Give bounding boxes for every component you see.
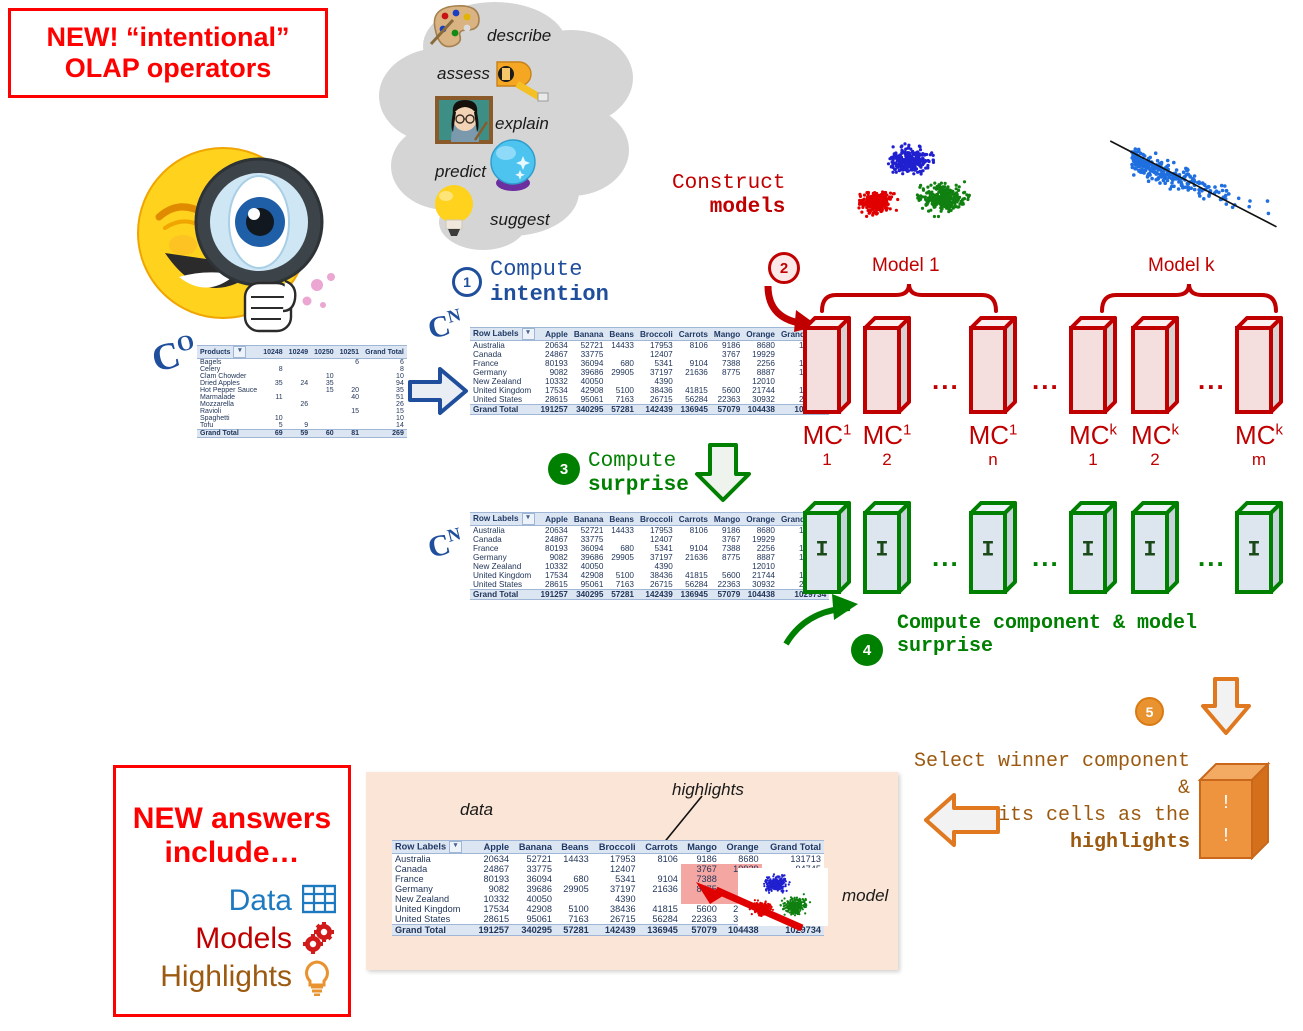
table-cell: 9082 xyxy=(472,884,512,894)
table-row: Hot Pepper Sauce152035 xyxy=(197,387,407,394)
table-row: Germany908239686299053719721636877588871… xyxy=(470,553,829,562)
answers-heading-2: include… xyxy=(164,836,299,870)
table-cell: 19929 xyxy=(743,350,778,359)
table-cell: 9104 xyxy=(639,874,681,884)
component-label: MCk xyxy=(1130,422,1180,448)
table-cell xyxy=(639,894,681,904)
table-row: New Zealand103324005043901201066782 xyxy=(470,377,829,386)
table-cell xyxy=(260,401,285,408)
table-cell: 33775 xyxy=(571,350,607,359)
column-header: Banana xyxy=(512,841,555,854)
table-cell: 36094 xyxy=(571,544,607,553)
table-cell: 12010 xyxy=(743,562,778,571)
table-cell xyxy=(311,415,336,422)
winner-highlight-box-icon: ! ! xyxy=(1196,758,1272,863)
answers-heading-1: NEW answers xyxy=(133,802,331,836)
cloud-label-describe: describe xyxy=(487,26,551,46)
table-cell: Grand Total xyxy=(392,925,472,936)
table-cell: 57079 xyxy=(711,405,743,415)
table-cell: 8775 xyxy=(711,368,743,377)
table-cell: 340295 xyxy=(512,925,555,936)
table-cell: France xyxy=(392,874,472,884)
table-cell: 40050 xyxy=(571,377,607,386)
table-cell: 5341 xyxy=(637,544,676,553)
table-cell: 21636 xyxy=(639,884,681,894)
model-k-label: Model k xyxy=(1148,255,1215,277)
model-component-boxes-red: MC11MC12...MC1n...MCk1MCk2...MCkm xyxy=(800,315,1300,490)
table-cell: 142439 xyxy=(592,925,639,936)
component-label: MC1 xyxy=(802,422,852,448)
data-caption: data xyxy=(460,800,493,820)
table-cell: 56284 xyxy=(676,395,711,405)
spreadsheet-old-cube[interactable]: Products▾10248102491025010251Grand Total… xyxy=(197,345,407,438)
ellipsis: ... xyxy=(932,542,960,573)
table-row: Australia2063452721144331795381069186868… xyxy=(392,854,824,865)
table-cell: 41815 xyxy=(639,904,681,914)
table-cell xyxy=(676,562,711,571)
table-row: Clam Chowder1010 xyxy=(197,373,407,380)
answers-label-data: Data xyxy=(229,885,292,917)
column-header: Grand Total xyxy=(362,346,407,359)
table-row: Canada24867337751240737671992994745 xyxy=(470,535,829,544)
table-cell: 51 xyxy=(362,394,407,401)
green-arrow-down-icon xyxy=(694,442,752,504)
step-4-label: Compute component & model surprise xyxy=(897,612,1303,658)
component-label: MCk xyxy=(1068,422,1118,448)
table-body: Australia2063452721144331795381069186868… xyxy=(470,341,829,415)
table-cell xyxy=(337,422,362,430)
table-cell xyxy=(606,535,637,544)
table-cell: 21636 xyxy=(676,553,711,562)
column-header: Carrots xyxy=(676,328,711,341)
table-cell: 191257 xyxy=(538,405,571,415)
table-cell: 191257 xyxy=(538,590,571,600)
title-line-2: OLAP operators xyxy=(65,53,272,84)
table-cell: 24867 xyxy=(538,350,571,359)
svg-text:I: I xyxy=(981,538,994,563)
table-cell xyxy=(337,373,362,380)
surprise-component-box: I xyxy=(862,500,918,600)
table-cell xyxy=(286,408,311,415)
svg-text:I: I xyxy=(1143,538,1156,563)
table-cell: 37197 xyxy=(637,553,676,562)
ellipsis: ... xyxy=(1032,365,1060,396)
model-component-box: MC11 xyxy=(802,315,858,470)
table-cell: 42908 xyxy=(512,904,555,914)
table-cell xyxy=(260,359,285,367)
scatter-plot-model-1 xyxy=(828,130,1003,240)
table-cell xyxy=(676,377,711,386)
table-cell: 5600 xyxy=(711,571,743,580)
table-cell: 136945 xyxy=(639,925,681,936)
surprise-component-box: I xyxy=(1068,500,1124,600)
lightbulb-icon xyxy=(431,182,477,238)
table-cell: 35 xyxy=(362,387,407,394)
step-2-label: Construct models xyxy=(672,172,785,219)
table-cell: 8775 xyxy=(711,553,743,562)
table-cell: 9186 xyxy=(681,854,720,865)
table-body: Australia2063452721144331795381069186868… xyxy=(470,526,829,600)
table-cell: 56284 xyxy=(676,580,711,590)
table-row: Tofu5914 xyxy=(197,422,407,430)
column-header: Broccoli xyxy=(637,513,676,526)
table-cell: 5100 xyxy=(606,386,637,395)
crystal-ball-icon xyxy=(487,138,539,192)
table-row: Bagels66 xyxy=(197,359,407,367)
column-header: Row Labels▾ xyxy=(470,513,538,526)
table-cell: 33775 xyxy=(512,864,555,874)
table-cell: 14 xyxy=(362,422,407,430)
table-cell: 7388 xyxy=(711,544,743,553)
spreadsheet-new-cube-top[interactable]: Row Labels▾AppleBananaBeansBroccoliCarro… xyxy=(470,327,829,415)
column-header: Mango xyxy=(711,328,743,341)
answers-row-models: Models xyxy=(128,922,336,956)
cube-icon xyxy=(1130,315,1186,420)
table-cell: 9186 xyxy=(711,341,743,351)
table-cell: 2256 xyxy=(743,544,778,553)
table-cell: 95061 xyxy=(571,395,607,405)
component-index: 1 xyxy=(802,450,852,470)
title-callout-box: NEW! “intentional” OLAP operators xyxy=(8,8,328,98)
table-cell: Ravioli xyxy=(197,408,260,415)
step-2-line-1: Construct xyxy=(672,172,785,196)
cube-icon xyxy=(862,315,918,420)
column-header: Beans xyxy=(555,841,592,854)
model-component-box: MC1n xyxy=(968,315,1024,470)
ellipsis: ... xyxy=(1198,542,1226,573)
table-cell: 8680 xyxy=(743,341,778,351)
table-cell: 5341 xyxy=(637,359,676,368)
table-cell: 5100 xyxy=(555,904,592,914)
table-row: Australia2063452721144331795381069186868… xyxy=(470,341,829,351)
table-cell: France xyxy=(470,544,538,553)
answers-row-data: Data xyxy=(128,884,336,918)
table-cell: 29905 xyxy=(606,553,637,562)
svg-text:I: I xyxy=(1247,538,1260,563)
ellipsis: ... xyxy=(932,365,960,396)
table-cell: United Kingdom xyxy=(392,904,472,914)
step-badge-5: 5 xyxy=(1135,697,1164,726)
answers-label-models: Models xyxy=(195,923,292,955)
table-cell: 10332 xyxy=(538,562,571,571)
table-cell: Grand Total xyxy=(197,430,260,438)
table-cell: New Zealand xyxy=(470,377,538,386)
model-component-box: MC12 xyxy=(862,315,918,470)
table-cell: Grand Total xyxy=(470,590,538,600)
sheet-n1-table: Row Labels▾AppleBananaBeansBroccoliCarro… xyxy=(470,327,829,415)
table-cell: 9104 xyxy=(676,359,711,368)
table-cell: 3767 xyxy=(681,864,720,874)
table-cell: 69 xyxy=(260,430,285,438)
table-cell: 680 xyxy=(555,874,592,884)
table-cell xyxy=(606,377,637,386)
table-cell: 10332 xyxy=(472,894,512,904)
table-cell: 340295 xyxy=(571,405,607,415)
table-cell: 5341 xyxy=(592,874,639,884)
lightbulb-icon xyxy=(302,960,336,994)
table-cell: 15 xyxy=(337,408,362,415)
column-header: 10251 xyxy=(337,346,362,359)
table-cell: 136945 xyxy=(676,590,711,600)
table-cell: 9 xyxy=(286,422,311,430)
table-cell: 37197 xyxy=(592,884,639,894)
orange-arrow-left-icon xyxy=(922,790,1002,850)
table-cell: Spaghetti xyxy=(197,415,260,422)
cloud-label-explain: explain xyxy=(495,114,549,134)
table-row: United Kingdom17534429085100384364181556… xyxy=(470,571,829,580)
table-row: Canada24867337751240737671992994745 xyxy=(470,350,829,359)
column-header: Row Labels▾ xyxy=(470,328,538,341)
tape-measure-icon xyxy=(493,56,553,104)
table-cell: United States xyxy=(470,395,538,405)
table-cell: 22363 xyxy=(711,395,743,405)
table-cell: 60 xyxy=(311,430,336,438)
table-cell: 21744 xyxy=(743,386,778,395)
surprise-component-box: I xyxy=(968,500,1024,600)
gears-icon xyxy=(302,922,336,956)
table-cell xyxy=(711,377,743,386)
cube-icon xyxy=(1234,315,1290,420)
table-cell: 4390 xyxy=(637,562,676,571)
table-row: New Zealand103324005043901201066782 xyxy=(470,562,829,571)
table-cell: 20 xyxy=(337,387,362,394)
table-cell: 40 xyxy=(337,394,362,401)
table-cell xyxy=(606,350,637,359)
svg-text:!: ! xyxy=(1220,792,1231,814)
table-cell xyxy=(311,394,336,401)
component-label: MC1 xyxy=(968,422,1018,448)
table-cell: 11 xyxy=(260,394,285,401)
component-label: MC1 xyxy=(862,422,912,448)
cube-icon: I xyxy=(802,500,858,600)
table-cell: 26 xyxy=(286,401,311,408)
step-3-label: Compute surprise xyxy=(588,450,689,497)
table-cell: 57281 xyxy=(555,925,592,936)
table-cell: 8106 xyxy=(676,341,711,351)
table-cell: 59 xyxy=(286,430,311,438)
component-index: 2 xyxy=(862,450,912,470)
table-cell: 39686 xyxy=(571,553,607,562)
table-cell: 19929 xyxy=(743,535,778,544)
table-cell: 33775 xyxy=(571,535,607,544)
column-header: 10250 xyxy=(311,346,336,359)
table-cell: France xyxy=(470,359,538,368)
column-header: Beans xyxy=(606,328,637,341)
filter-dropdown-icon[interactable]: ▾ xyxy=(449,841,462,853)
column-header: Orange xyxy=(743,513,778,526)
table-cell xyxy=(260,373,285,380)
cube-icon xyxy=(968,315,1024,420)
svg-text:!: ! xyxy=(1220,825,1231,847)
table-cell: 42908 xyxy=(571,571,607,580)
column-header: Apple xyxy=(472,841,512,854)
table-row: Mozzarella2626 xyxy=(197,401,407,408)
cube-icon xyxy=(1068,315,1124,420)
table-cell xyxy=(260,387,285,394)
table-cell: Bagels xyxy=(197,359,260,367)
table-cell: 136945 xyxy=(676,405,711,415)
column-header: Banana xyxy=(571,513,607,526)
cube-new-label-top: CN xyxy=(424,304,466,346)
orange-arrow-down-icon xyxy=(1200,676,1252,736)
table-header-row: Row Labels▾AppleBananaBeansBroccoliCarro… xyxy=(392,841,824,854)
component-index: 1 xyxy=(1068,450,1118,470)
model-component-box: MCkm xyxy=(1234,315,1290,470)
table-cell: 57281 xyxy=(606,405,637,415)
table-cell: 191257 xyxy=(472,925,512,936)
sheet-small-table: Products▾10248102491025010251Grand Total… xyxy=(197,345,407,438)
title-line-1: NEW! “intentional” xyxy=(47,22,290,53)
table-cell: Germany xyxy=(470,553,538,562)
table-cell: 28615 xyxy=(538,395,571,405)
table-cell xyxy=(337,366,362,373)
table-row: Marmalade114051 xyxy=(197,394,407,401)
table-cell: 57281 xyxy=(606,590,637,600)
cloud-label-suggest: suggest xyxy=(490,210,550,230)
table-cell: Dried Apples xyxy=(197,380,260,387)
cloud-label-assess: assess xyxy=(437,64,490,84)
surprise-component-box: I xyxy=(802,500,858,600)
table-cell: 36094 xyxy=(571,359,607,368)
table-cell xyxy=(311,408,336,415)
table-cell: 20634 xyxy=(472,854,512,865)
grand-total-row: Grand Total19125734029557281142439136945… xyxy=(470,590,829,600)
table-header-row: Products▾10248102491025010251Grand Total xyxy=(197,346,407,359)
blue-arrow-right-icon xyxy=(406,360,470,424)
table-cell: 95061 xyxy=(512,914,555,925)
cube-icon: I xyxy=(1234,500,1290,600)
table-cell: 80193 xyxy=(538,359,571,368)
thought-cloud: describe assess explain xyxy=(375,0,655,255)
table-body: Bagels66Celery88Clam Chowder1010Dried Ap… xyxy=(197,359,407,438)
table-cell: Mozzarella xyxy=(197,401,260,408)
table-cell: 5600 xyxy=(711,386,743,395)
table-cell: 10332 xyxy=(538,377,571,386)
column-header: Banana xyxy=(571,328,607,341)
table-cell: 38436 xyxy=(637,571,676,580)
table-cell: 3767 xyxy=(711,535,743,544)
column-header: Carrots xyxy=(676,513,711,526)
table-cell: 94 xyxy=(362,380,407,387)
table-cell: Canada xyxy=(470,350,538,359)
column-header: Beans xyxy=(606,513,637,526)
table-cell: 340295 xyxy=(571,590,607,600)
table-cell: Celery xyxy=(197,366,260,373)
column-header: Products▾ xyxy=(197,346,260,359)
table-grid-icon xyxy=(302,884,336,918)
column-header: Mango xyxy=(711,513,743,526)
column-header: 10249 xyxy=(286,346,311,359)
table-cell: 26715 xyxy=(592,914,639,925)
step-1-line-2: intention xyxy=(490,283,609,308)
table-cell: 8 xyxy=(260,366,285,373)
table-cell: New Zealand xyxy=(470,562,538,571)
new-answers-box: NEW answers include… Data Models xyxy=(113,765,351,1017)
table-cell: Germany xyxy=(392,884,472,894)
table-cell: 9186 xyxy=(711,526,743,536)
sheet-n2-table: Row Labels▾AppleBananaBeansBroccoliCarro… xyxy=(470,512,829,600)
surprise-component-box: I xyxy=(1130,500,1186,600)
component-index: n xyxy=(968,450,1018,470)
column-header: Carrots xyxy=(639,841,681,854)
table-cell: 21744 xyxy=(743,571,778,580)
step-badge-3: 3 xyxy=(548,453,580,485)
table-cell: 4390 xyxy=(637,377,676,386)
table-cell: 57079 xyxy=(711,590,743,600)
component-label: MCk xyxy=(1234,422,1284,448)
cube-icon xyxy=(802,315,858,420)
table-cell: 5 xyxy=(260,422,285,430)
filter-dropdown-icon[interactable]: ▾ xyxy=(233,346,246,358)
table-cell: 269 xyxy=(362,430,407,438)
table-cell: 9104 xyxy=(676,544,711,553)
table-cell: 26715 xyxy=(637,395,676,405)
table-cell: 7163 xyxy=(606,580,637,590)
table-cell xyxy=(260,408,285,415)
table-cell: 12407 xyxy=(637,350,676,359)
table-cell: 8 xyxy=(362,366,407,373)
table-cell: Grand Total xyxy=(470,405,538,415)
table-cell: 21636 xyxy=(676,368,711,377)
table-cell: Hot Pepper Sauce xyxy=(197,387,260,394)
grand-total-row: Grand Total19125734029557281142439136945… xyxy=(470,405,829,415)
filter-dropdown-icon[interactable]: ▾ xyxy=(522,328,535,340)
table-row: Celery88 xyxy=(197,366,407,373)
cube-new-label-bottom: CN xyxy=(424,523,466,565)
table-row: United Kingdom17534429085100384364181556… xyxy=(470,386,829,395)
table-cell xyxy=(639,864,681,874)
table-cell: 39686 xyxy=(571,368,607,377)
component-index: 2 xyxy=(1130,450,1180,470)
table-cell: 80193 xyxy=(538,544,571,553)
table-cell: 22363 xyxy=(711,580,743,590)
teacher-icon xyxy=(435,96,493,152)
column-header: Broccoli xyxy=(637,328,676,341)
cube-icon: I xyxy=(1068,500,1124,600)
spreadsheet-new-cube-bottom[interactable]: Row Labels▾AppleBananaBeansBroccoliCarro… xyxy=(470,512,829,600)
table-cell xyxy=(286,366,311,373)
red-pointer-arrow-icon xyxy=(690,880,810,940)
model-1-label: Model 1 xyxy=(872,255,940,277)
table-cell: New Zealand xyxy=(392,894,472,904)
table-cell xyxy=(555,864,592,874)
table-cell: United States xyxy=(470,580,538,590)
table-cell: 17534 xyxy=(472,904,512,914)
table-cell: 7163 xyxy=(606,395,637,405)
cube-icon: I xyxy=(862,500,918,600)
table-cell: United States xyxy=(392,914,472,925)
table-cell: 81 xyxy=(337,430,362,438)
filter-dropdown-icon[interactable]: ▾ xyxy=(522,513,535,525)
table-cell: 5100 xyxy=(606,571,637,580)
table-cell: 12407 xyxy=(592,864,639,874)
table-cell: 38436 xyxy=(592,904,639,914)
table-cell: 38436 xyxy=(637,386,676,395)
table-cell: 6 xyxy=(337,359,362,367)
table-cell: Australia xyxy=(470,341,538,351)
table-cell xyxy=(286,387,311,394)
table-cell xyxy=(286,394,311,401)
grand-total-row: Grand Total69596081269 xyxy=(197,430,407,438)
table-cell: 24867 xyxy=(538,535,571,544)
table-cell: 15 xyxy=(311,387,336,394)
table-cell: 680 xyxy=(606,544,637,553)
step-3-line-1: Compute xyxy=(588,450,689,474)
scatter-plot-model-k xyxy=(1105,130,1280,240)
surprise-component-box: I xyxy=(1234,500,1290,600)
table-cell: 28615 xyxy=(538,580,571,590)
table-cell: 24867 xyxy=(472,864,512,874)
